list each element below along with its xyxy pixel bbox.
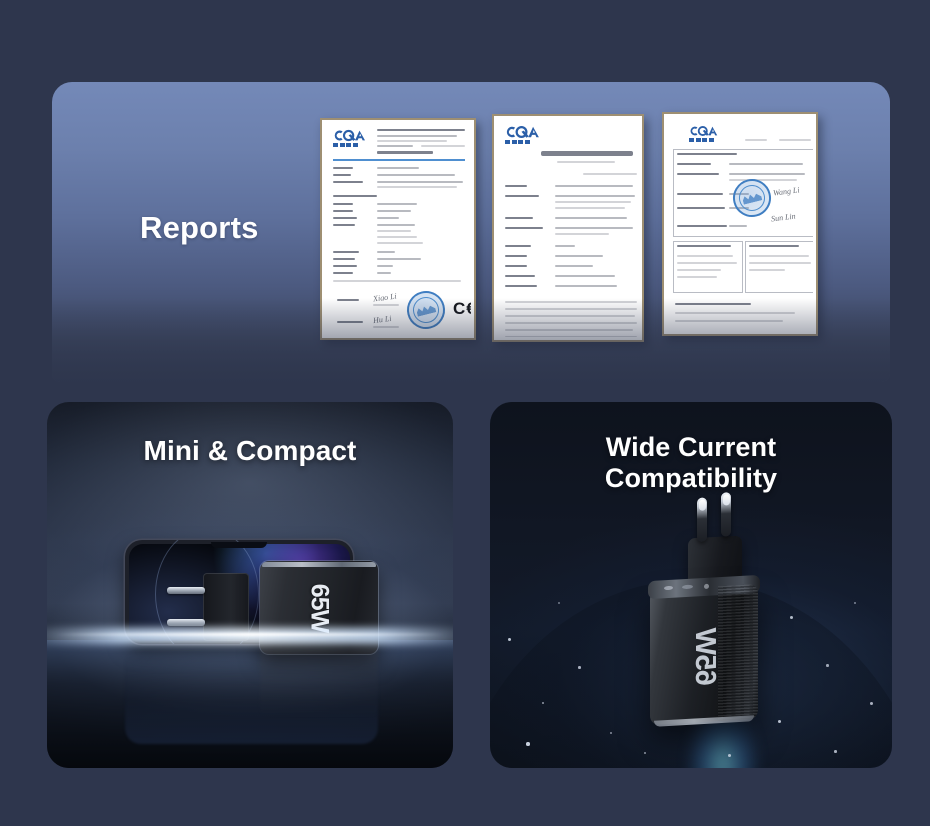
signature-approved: Jian Lu (373, 334, 398, 335)
ce-mark-icon: C€ (453, 299, 471, 319)
plug-pin-top (167, 587, 205, 594)
usb-c-port-indicator (664, 586, 673, 591)
certificate-page: Xiao Li Hu Li Jian Lu C€ (325, 123, 471, 335)
feature-card-wide-current[interactable]: Wide Current Compatibility 65W (490, 402, 892, 768)
cqa-logo-icon (505, 125, 541, 144)
charger-reflection (260, 648, 378, 718)
eu-plug-pin-right (721, 492, 731, 537)
page-number-label (745, 139, 767, 141)
usb-a-port-indicator (682, 585, 693, 590)
charger-wattage-label: 65W (688, 628, 721, 686)
cqa-seal-stamp-icon (403, 287, 449, 333)
certificate-page: Park Lee C€ (497, 119, 639, 337)
feature-title-wide-current: Wide Current Compatibility (490, 432, 892, 493)
cqa-logo-subtext (689, 138, 719, 142)
page-title: Reports (140, 210, 259, 246)
eu-plug-pin-left (697, 497, 707, 542)
cqa-logo-icon (333, 129, 367, 147)
signature-tested: Xiao Li (373, 292, 398, 304)
reports-card: Reports (52, 82, 890, 382)
feature-title-line-1: Wide Current (606, 432, 776, 462)
cqa-logo-subtext (333, 143, 367, 147)
signature-reviewed: Hu Li (373, 314, 392, 325)
cqa-logo-icon (689, 125, 719, 142)
report-number-label (779, 139, 811, 141)
light-streak-glow (47, 628, 453, 644)
plug-pin-bottom (167, 619, 205, 626)
charger-wattage-label: 65W (305, 583, 334, 631)
feature-card-mini-compact[interactable]: Mini & Compact 65W (47, 402, 453, 768)
certificate-of-conformity[interactable]: Park Lee C€ (492, 114, 644, 342)
cqa-logo-subtext (505, 140, 541, 144)
divider (333, 159, 465, 161)
certificate-test-report[interactable]: Xiao Li Hu Li Jian Lu C€ (320, 118, 476, 340)
charger-illustration-wide: 65W (650, 584, 758, 725)
phone-notch (211, 542, 267, 548)
certificate-testing-summary[interactable]: Wang Li Sun Lin (662, 112, 818, 336)
charger-top-trim (262, 562, 376, 567)
charger-ribbed-side (718, 584, 758, 721)
light-streak-core (55, 633, 445, 636)
certificate-heading (541, 151, 633, 156)
status-led-icon (704, 584, 709, 589)
feature-title-mini-compact: Mini & Compact (47, 435, 453, 467)
feature-title-line-2: Compatibility (605, 463, 777, 493)
certificate-page: Wang Li Sun Lin (667, 117, 813, 331)
